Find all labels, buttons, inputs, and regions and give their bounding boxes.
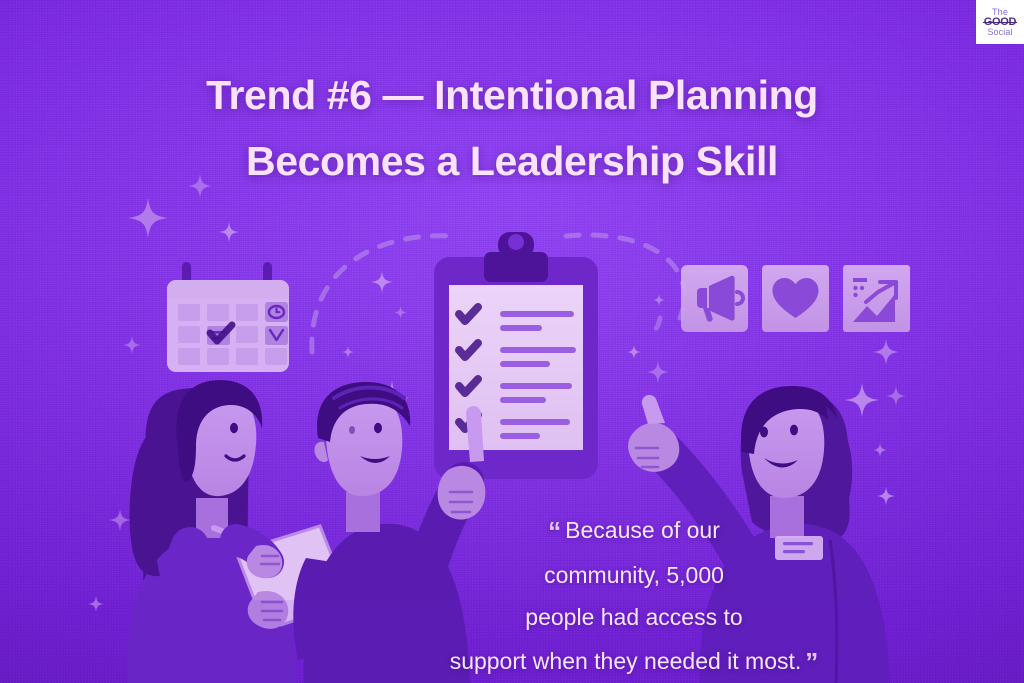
calendar-illustration	[167, 262, 289, 372]
calendar-star-icon	[265, 326, 288, 345]
quote-line-1: Because of our	[565, 517, 720, 543]
quote-open-mark: “	[548, 516, 561, 546]
quote-line-4: support when they needed it most.	[450, 648, 802, 674]
logo-line-social: Social	[987, 28, 1012, 37]
testimonial-quote: “Because of our community, 5,000 people …	[430, 508, 838, 683]
brand-logo[interactable]: The GOOD Social	[976, 0, 1024, 44]
clipboard-illustration	[434, 232, 598, 479]
quote-line-2: community, 5,000	[544, 562, 724, 588]
headline-line-1: Trend #6 — Intentional Planning	[60, 62, 964, 128]
page-title: Trend #6 — Intentional Planning Becomes …	[0, 62, 1024, 195]
logo-word-good: GOOD	[984, 17, 1016, 28]
quote-line-3: people had access to	[525, 604, 742, 630]
card-megaphone	[681, 265, 748, 332]
poster-canvas: Trend #6 — Intentional Planning Becomes …	[0, 0, 1024, 683]
card-heart	[762, 265, 829, 332]
quote-close-mark: ”	[805, 647, 818, 677]
headline-line-2: Becomes a Leadership Skill	[60, 128, 964, 194]
dashed-arc-tail	[646, 318, 660, 332]
calendar-clock-icon	[265, 302, 288, 322]
dashed-arc-left	[312, 236, 452, 352]
card-chart	[843, 265, 910, 332]
